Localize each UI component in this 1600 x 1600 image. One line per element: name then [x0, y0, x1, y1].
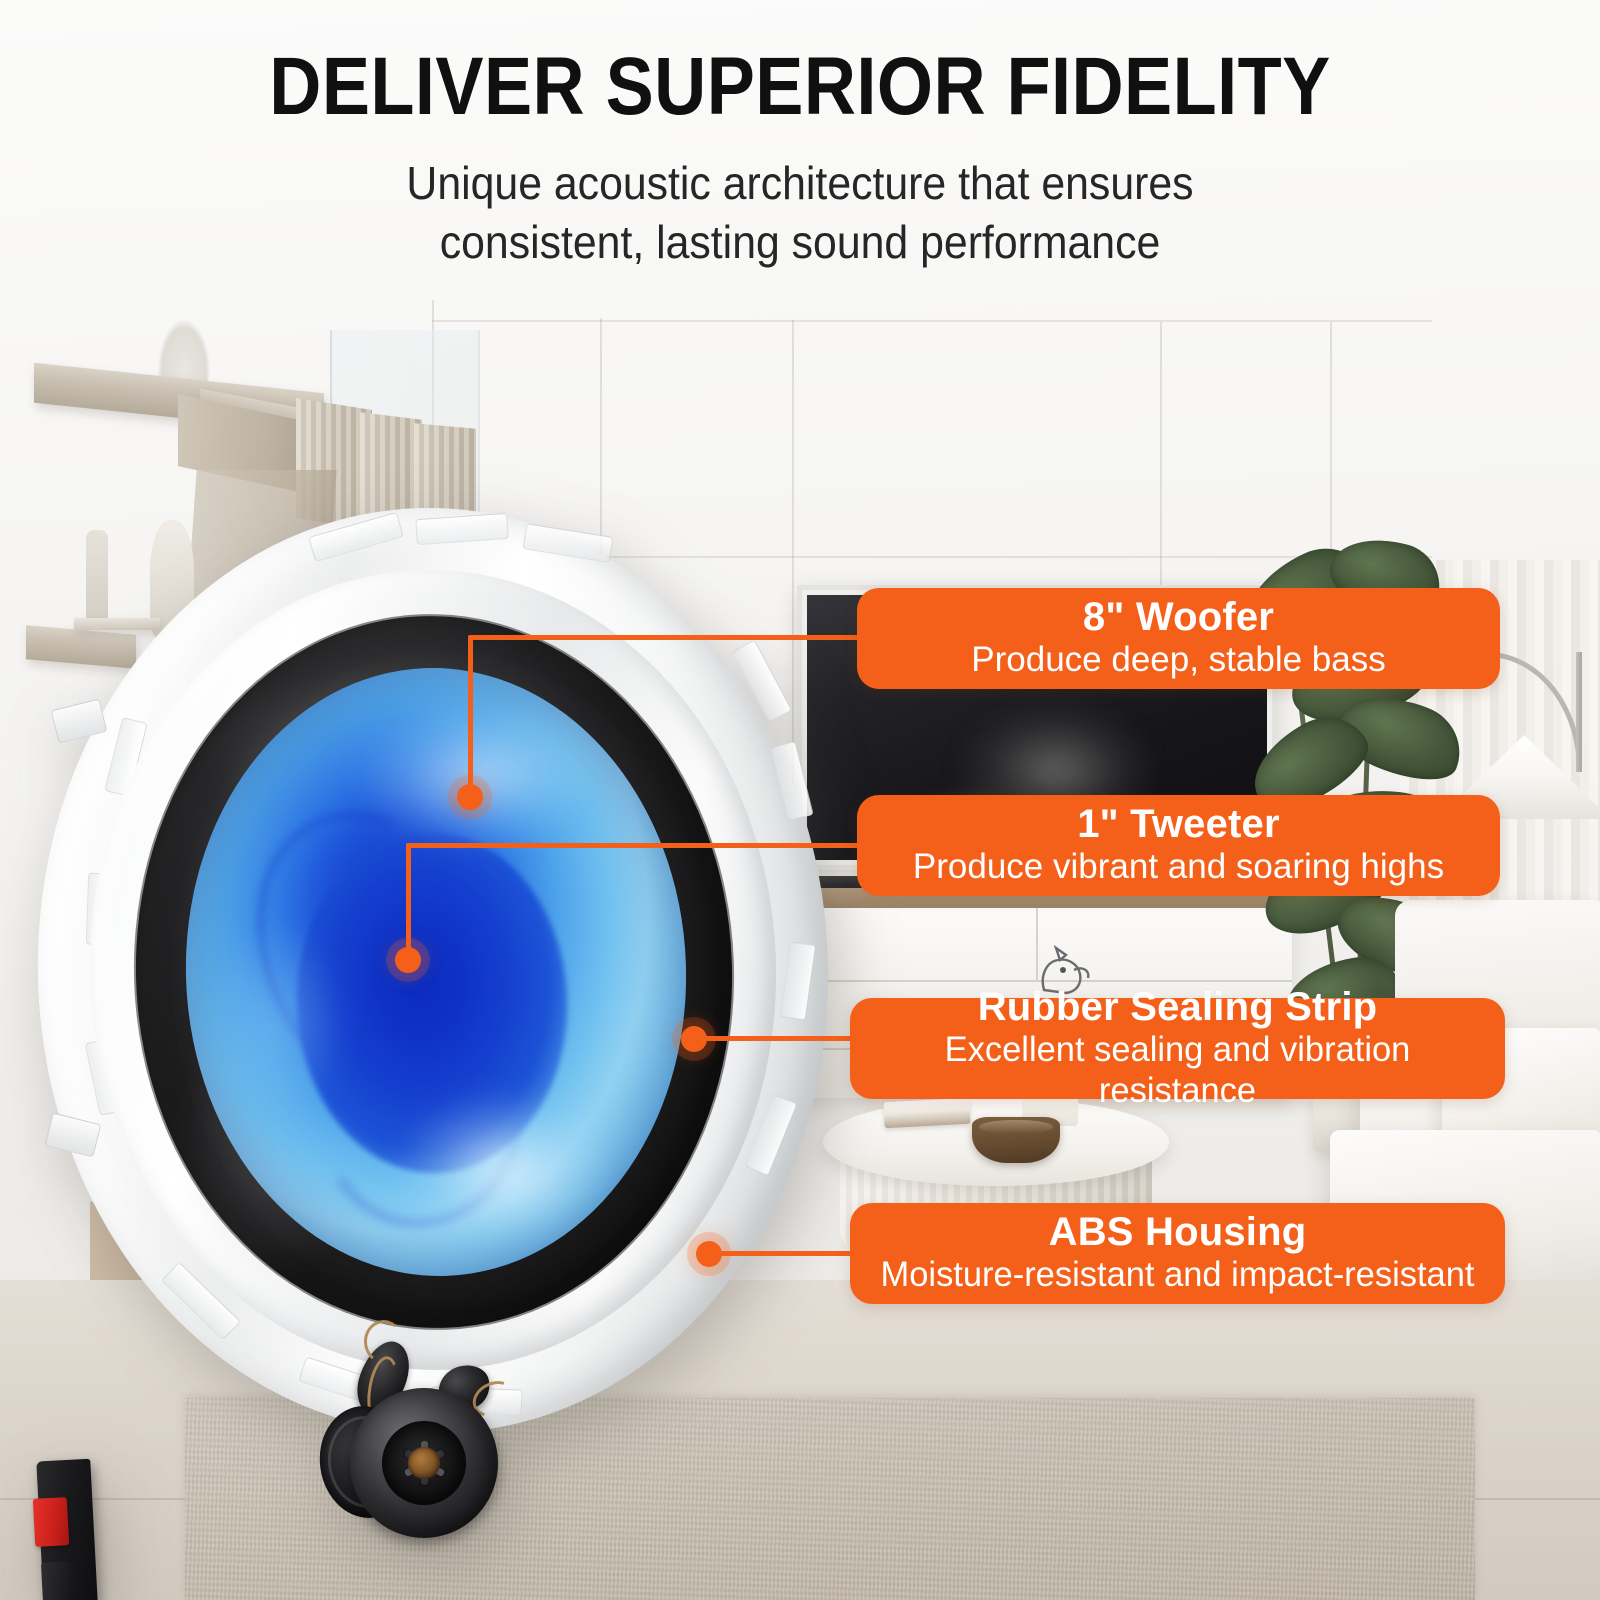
callout-tweeter[interactable]: 1" Tweeter Produce vibrant and soaring h…	[857, 795, 1500, 896]
callout-dot-tweeter	[395, 947, 421, 973]
leader-line-tweeter	[406, 843, 860, 848]
in-ceiling-speaker-product	[38, 508, 828, 1433]
leader-line-rubber-sealing-strip	[692, 1036, 857, 1041]
callout-subtitle-rubber-sealing-strip: Excellent sealing and vibration resistan…	[863, 1030, 1492, 1111]
tweeter	[350, 1388, 498, 1538]
wall-panel-seam	[432, 320, 1432, 322]
lamp-pole	[1576, 652, 1582, 772]
callout-title-tweeter: 1" Tweeter	[873, 803, 1484, 845]
page-title: DELIVER SUPERIOR FIDELITY	[96, 46, 1504, 128]
infographic-canvas: DELIVER SUPERIOR FIDELITY Unique acousti…	[0, 0, 1600, 1600]
tweeter-dome	[408, 1447, 440, 1479]
callout-dot-abs-housing	[696, 1241, 722, 1267]
leader-line-tweeter	[406, 845, 411, 963]
leader-line-woofer	[468, 635, 860, 640]
header-block: DELIVER SUPERIOR FIDELITY Unique acousti…	[0, 46, 1600, 272]
callout-subtitle-woofer: Produce deep, stable bass	[873, 640, 1484, 681]
callout-dot-rubber-sealing-strip	[681, 1026, 707, 1052]
callout-subtitle-abs-housing: Moisture-resistant and impact-resistant	[863, 1255, 1492, 1296]
page-subtitle-line-1: Unique acoustic architecture that ensure…	[56, 154, 1544, 213]
callout-title-abs-housing: ABS Housing	[858, 1211, 1497, 1253]
callout-woofer[interactable]: 8" Woofer Produce deep, stable bass	[857, 588, 1500, 689]
callout-title-rubber-sealing-strip: Rubber Sealing Strip	[858, 986, 1497, 1028]
page-subtitle: Unique acoustic architecture that ensure…	[56, 154, 1544, 272]
callout-abs-housing[interactable]: ABS Housing Moisture-resistant and impac…	[850, 1203, 1505, 1304]
positive-terminal-clip	[33, 1497, 69, 1547]
negative-terminal-clip	[41, 1561, 73, 1600]
callout-rubber-sealing-strip[interactable]: Rubber Sealing Strip Excellent sealing a…	[850, 998, 1505, 1099]
callout-title-woofer: 8" Woofer	[873, 596, 1484, 638]
callout-dot-woofer	[457, 784, 483, 810]
leader-line-woofer	[468, 637, 473, 799]
tweeter-aperture	[382, 1421, 466, 1505]
wooden-bowl	[972, 1117, 1060, 1163]
leader-line-abs-housing	[707, 1251, 857, 1256]
page-subtitle-line-2: consistent, lasting sound performance	[56, 213, 1544, 272]
callout-subtitle-tweeter: Produce vibrant and soaring highs	[873, 847, 1484, 888]
